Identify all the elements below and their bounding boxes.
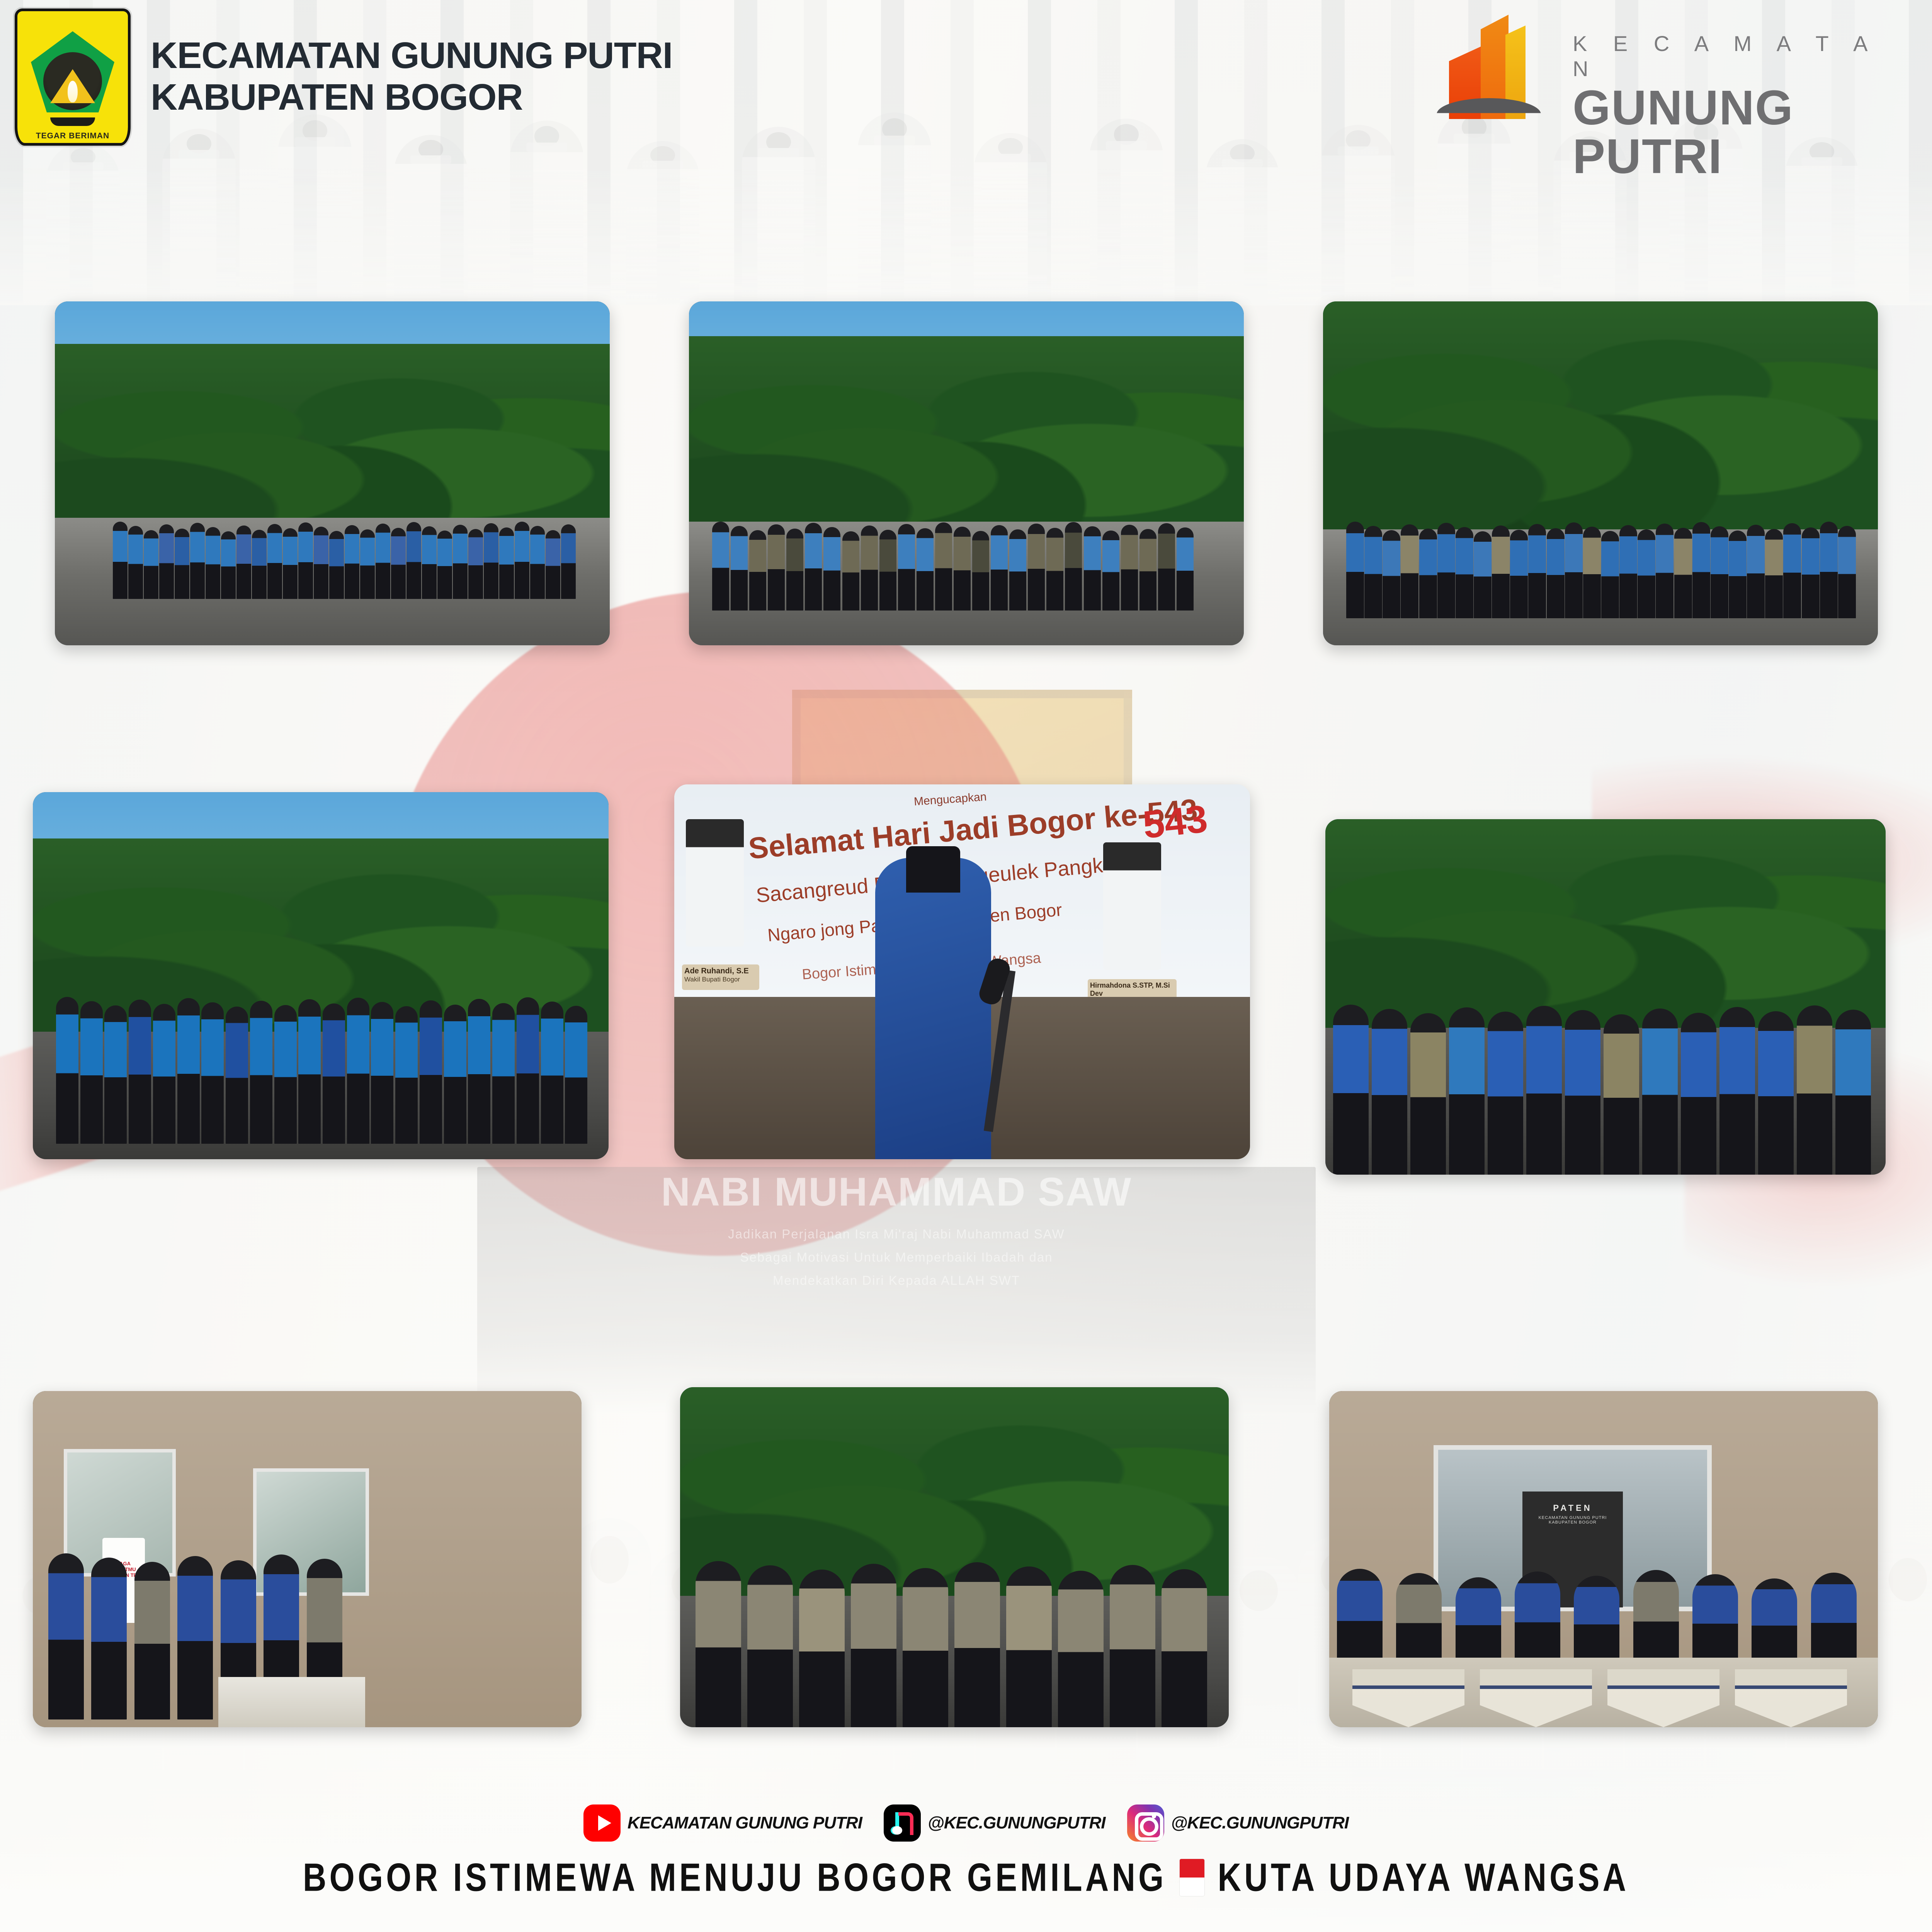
gallery-photo-6[interactable] — [1325, 819, 1886, 1175]
photo-table — [218, 1677, 365, 1727]
photo-person — [1692, 522, 1710, 618]
photo-person — [201, 1002, 224, 1144]
photo-table-row — [1329, 1658, 1878, 1727]
photo-person — [530, 526, 545, 599]
photo-person — [879, 530, 896, 611]
page-title-line-2: KABUPATEN BOGOR — [151, 77, 672, 118]
photo-person — [1139, 529, 1156, 611]
photo-person — [1547, 528, 1565, 618]
photo-person — [177, 998, 200, 1144]
photo-person — [1084, 526, 1101, 611]
photo-person — [420, 1000, 442, 1144]
page-title-line-1: KECAMATAN GUNUNG PUTRI — [151, 35, 672, 77]
photo-person — [515, 522, 529, 599]
photo-person — [851, 1564, 896, 1727]
gunung-putri-tower-logo-icon: K E C A M A T A N GUNUNG PUTRI — [1426, 8, 1897, 135]
banner-anniversary-number: 543 — [1141, 797, 1210, 848]
photo-person — [468, 529, 483, 599]
photo-people-row — [56, 962, 589, 1144]
photo-person — [1719, 1007, 1755, 1175]
banner-caption-left-title: Wakil Bupati Bogor — [684, 976, 757, 983]
photo-person — [104, 1005, 127, 1144]
photo-person — [128, 526, 143, 599]
tagline-row: BOGOR ISTIMEWA MENUJU BOGOR GEMILANG KUT… — [0, 1859, 1932, 1896]
photo-person — [1674, 528, 1692, 618]
brand-kecamatan-label: K E C A M A T A N — [1573, 31, 1897, 81]
social-link-tiktok[interactable]: @KEC.GUNUNGPUTRI — [884, 1804, 1105, 1842]
photo-person — [1456, 1577, 1501, 1669]
photo-person — [395, 1006, 418, 1144]
photo-batik-table — [1735, 1669, 1847, 1727]
photo-person — [1474, 531, 1492, 618]
photo-person — [903, 1568, 948, 1727]
photo-door-sign: PATEN KECAMATAN GUNUNG PUTRI KABUPATEN B… — [1522, 1503, 1623, 1525]
photo-batik-table — [1352, 1669, 1464, 1727]
photo-person — [1456, 527, 1473, 618]
crest-motto-text: TEGAR BERIMAN — [36, 131, 109, 141]
social-label-youtube: KECAMATAN GUNUNG PUTRI — [628, 1813, 862, 1833]
gallery-photo-1[interactable] — [55, 301, 610, 645]
photo-person — [1820, 522, 1838, 618]
photo-person — [56, 997, 78, 1144]
gallery-photo-3[interactable] — [1323, 301, 1878, 645]
photo-person — [48, 1553, 84, 1719]
photo-person — [1583, 527, 1601, 618]
photo-person — [177, 1556, 213, 1719]
photo-person — [1401, 524, 1418, 618]
photo-person — [1838, 526, 1856, 618]
photo-person — [1601, 531, 1619, 618]
photo-person — [267, 524, 282, 599]
photo-person — [935, 522, 952, 611]
photo-person — [1797, 1005, 1832, 1175]
photo-person — [749, 530, 766, 611]
photo-person — [226, 1007, 248, 1144]
photo-person — [991, 525, 1008, 611]
photo-person — [437, 531, 452, 599]
photo-person — [1783, 523, 1801, 618]
photo-person — [1065, 522, 1082, 611]
photo-door-sign-line-3: KABUPATEN BOGOR — [1522, 1520, 1623, 1525]
photo-person — [1449, 1007, 1485, 1175]
photo-person — [1046, 528, 1063, 611]
photo-person — [799, 1570, 845, 1727]
gallery-photo-7[interactable]: JAGA SEHATMU DENGAN TPT — [33, 1391, 582, 1727]
tagline-left: BOGOR ISTIMEWA MENUJU BOGOR GEMILANG — [303, 1854, 1167, 1900]
tower-glyph — [1437, 12, 1561, 128]
photo-person — [1333, 1005, 1369, 1175]
photo-person — [1028, 524, 1045, 611]
photo-person — [298, 522, 313, 599]
photo-person — [696, 1561, 741, 1727]
photo-person — [1058, 1571, 1104, 1727]
photo-door-sign-line-2: KECAMATAN GUNUNG PUTRI — [1522, 1515, 1623, 1520]
photo-person — [1419, 529, 1437, 618]
gallery-photo-4[interactable] — [33, 792, 609, 1159]
bogor-regency-crest-icon: TEGAR BERIMAN — [15, 9, 131, 146]
photo-person — [360, 529, 375, 599]
photo-person — [1758, 1011, 1794, 1175]
photo-person — [347, 998, 369, 1144]
indonesia-flag-icon — [1180, 1859, 1204, 1896]
photo-person — [1835, 1010, 1871, 1175]
photo-person — [1006, 1566, 1052, 1727]
banner-line-1: Mengucapkan — [913, 790, 987, 808]
photo-person — [1565, 1010, 1600, 1175]
photo-person — [1565, 522, 1583, 618]
brand-wordmark: K E C A M A T A N GUNUNG PUTRI — [1573, 31, 1897, 181]
page-title: KECAMATAN GUNUNG PUTRI KABUPATEN BOGOR — [151, 35, 672, 118]
photo-person — [1574, 1576, 1619, 1669]
photo-person — [371, 1002, 393, 1144]
photo-speaker-peci — [906, 846, 960, 893]
youtube-icon — [583, 1804, 621, 1842]
photo-person — [298, 999, 321, 1144]
banner-portrait-left — [686, 819, 744, 947]
gallery-photo-8[interactable] — [680, 1387, 1229, 1727]
photo-person — [1492, 526, 1510, 618]
photo-person — [1681, 1013, 1716, 1175]
photo-person — [823, 527, 840, 611]
photo-speaker-figure — [875, 858, 991, 1159]
photo-person — [712, 522, 729, 611]
tiktok-icon — [884, 1804, 921, 1842]
photo-person — [1437, 523, 1455, 618]
photo-person — [1510, 530, 1528, 618]
social-label-instagram: @KEC.GUNUNGPUTRI — [1171, 1813, 1349, 1833]
photo-person — [1811, 1573, 1857, 1669]
photo-door-sign-line-1: PATEN — [1522, 1503, 1623, 1513]
photo-person — [484, 523, 498, 599]
photo-person — [1396, 1573, 1442, 1669]
photo-person — [153, 1004, 175, 1144]
photo-person — [252, 530, 267, 599]
photo-person — [329, 531, 344, 599]
photo-person — [1752, 1578, 1797, 1669]
photo-person — [422, 526, 437, 599]
photo-person — [1121, 525, 1138, 611]
social-link-youtube[interactable]: KECAMATAN GUNUNG PUTRI — [583, 1804, 862, 1842]
photo-person — [444, 1005, 466, 1144]
gallery-photo-9[interactable]: PATEN KECAMATAN GUNUNG PUTRI KABUPATEN B… — [1329, 1391, 1878, 1727]
photo-person — [917, 528, 934, 611]
photo-person — [1515, 1571, 1560, 1669]
photo-person — [972, 531, 989, 611]
photo-person — [499, 527, 514, 599]
photo-person — [1110, 1565, 1155, 1727]
photo-batik-table — [1607, 1669, 1719, 1727]
photo-person — [206, 527, 220, 599]
photo-person — [492, 1003, 515, 1144]
photo-person — [1638, 529, 1655, 618]
photo-person — [314, 527, 328, 599]
photo-person — [1633, 1570, 1679, 1669]
photo-person — [1656, 524, 1673, 618]
social-label-tiktok: @KEC.GUNUNGPUTRI — [928, 1813, 1105, 1833]
photo-person — [1526, 1006, 1562, 1175]
photo-person — [768, 524, 785, 611]
photo-people-row — [1337, 1553, 1870, 1669]
photo-person — [283, 528, 298, 599]
photo-person — [546, 530, 560, 599]
photo-person — [731, 526, 748, 611]
photo-people-row — [712, 495, 1195, 611]
photo-person — [1383, 530, 1400, 618]
social-links-row: KECAMATAN GUNUNG PUTRI @KEC.GUNUNGPUTRI … — [0, 1804, 1932, 1842]
photo-person — [842, 531, 859, 611]
photo-person — [541, 1002, 563, 1144]
photo-person — [134, 1562, 170, 1719]
photo-person — [1619, 525, 1637, 618]
photo-person — [1009, 529, 1026, 611]
social-link-instagram[interactable]: @KEC.GUNUNGPUTRI — [1127, 1804, 1349, 1842]
photo-person — [1162, 1569, 1207, 1727]
photo-people-row — [1346, 495, 1856, 618]
photo-person — [113, 522, 128, 599]
photo-person — [190, 523, 205, 599]
banner-caption-left-name: Ade Ruhandi, S.E — [684, 967, 757, 976]
crest-flame — [68, 81, 78, 102]
photo-person — [129, 1000, 151, 1144]
photo-person — [1729, 531, 1747, 618]
photo-person — [1604, 1014, 1639, 1175]
photo-person — [954, 1562, 1000, 1727]
photo-person — [1102, 531, 1119, 611]
photo-person — [561, 524, 576, 599]
photo-person — [80, 1001, 103, 1144]
photo-person — [91, 1558, 127, 1719]
photo-person — [805, 523, 822, 611]
gallery-photo-5[interactable]: Mengucapkan Selamat Hari Jadi Bogor ke-5… — [674, 784, 1250, 1159]
photo-people-row — [113, 498, 577, 599]
instagram-icon — [1127, 1804, 1164, 1842]
banner-caption-left: Ade Ruhandi, S.E Wakil Bupati Bogor — [682, 964, 759, 990]
tagline-right: KUTA UDAYA WANGSA — [1218, 1854, 1629, 1900]
photo-person — [1346, 522, 1364, 618]
photo-person — [453, 525, 468, 599]
photo-person — [236, 526, 251, 599]
photo-person — [1488, 1012, 1523, 1175]
photo-person — [954, 527, 971, 611]
photo-person — [406, 522, 421, 599]
photo-person — [323, 1003, 345, 1144]
photo-person — [1692, 1574, 1738, 1669]
photo-person — [861, 526, 878, 611]
photo-person — [159, 524, 174, 599]
photo-person — [175, 529, 189, 599]
photo-gallery: Mengucapkan Selamat Hari Jadi Bogor ke-5… — [0, 0, 1932, 1932]
banner-portrait-right — [1103, 842, 1161, 970]
page-header: TEGAR BERIMAN KECAMATAN GUNUNG PUTRI KAB… — [0, 0, 1932, 155]
photo-person — [517, 997, 539, 1144]
photo-person — [221, 531, 236, 599]
brand-name-label: GUNUNG PUTRI — [1573, 83, 1897, 181]
photo-person — [1410, 1013, 1446, 1175]
photo-person — [1747, 525, 1765, 618]
photo-people-row — [1333, 974, 1874, 1175]
photo-people-row — [696, 1542, 1213, 1727]
photo-person — [1158, 523, 1175, 611]
photo-person — [391, 528, 406, 599]
banner-caption-right-name: Hirmahdona S.STP, M.Si Dev — [1090, 981, 1174, 998]
page-footer: KECAMATAN GUNUNG PUTRI @KEC.GUNUNGPUTRI … — [0, 1801, 1932, 1932]
photo-person — [1765, 529, 1783, 618]
photo-person — [274, 1005, 297, 1144]
photo-person — [565, 1006, 587, 1144]
photo-person — [376, 524, 390, 599]
photo-person — [468, 999, 490, 1144]
photo-person — [1802, 527, 1820, 618]
photo-person — [250, 1001, 272, 1144]
photo-person — [1177, 527, 1194, 611]
photo-person — [1711, 526, 1728, 618]
photo-person — [1364, 526, 1382, 618]
photo-person — [1528, 524, 1546, 618]
photo-batik-table — [1480, 1669, 1592, 1727]
photo-person — [747, 1565, 793, 1727]
crest-base-bar — [50, 117, 95, 126]
photo-person — [1372, 1009, 1407, 1175]
photo-person — [1642, 1009, 1678, 1175]
gallery-photo-2[interactable] — [689, 301, 1244, 645]
photo-person — [786, 529, 803, 611]
photo-person — [898, 524, 915, 611]
photo-person — [1337, 1569, 1383, 1669]
photo-person — [144, 530, 158, 599]
photo-person — [345, 525, 359, 599]
